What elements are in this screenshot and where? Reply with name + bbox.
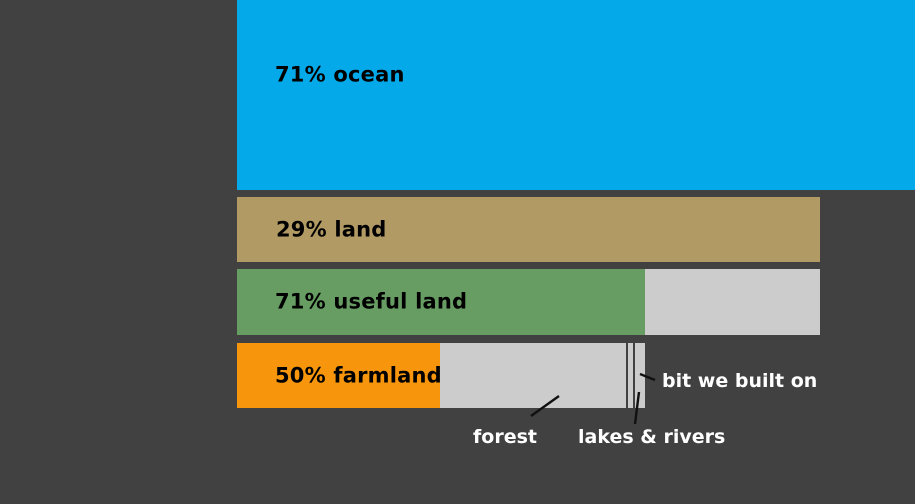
annotation-lakes-and-rivers: lakes & rivers	[578, 428, 725, 447]
annotation-forest: forest	[473, 428, 537, 447]
bar-label-farmland: 50% farmland	[275, 365, 442, 386]
bar-segment-forest	[440, 343, 626, 408]
bar-label-land: 29% land	[276, 219, 387, 240]
bar-segment-built-on	[635, 343, 645, 408]
annotation-built-on: bit we built on	[662, 372, 817, 391]
bar-row-farmland: 50% farmland	[237, 343, 645, 408]
bar-segment-ocean	[237, 0, 915, 190]
bar-row-land: 29% land	[237, 197, 820, 262]
bar-row-ocean: 71% ocean	[237, 0, 915, 190]
bar-segment-not-useful-land	[645, 269, 820, 335]
bar-label-ocean: 71% ocean	[275, 65, 405, 86]
bar-label-useful-land: 71% useful land	[275, 292, 467, 313]
bar-row-useful-land: 71% useful land	[237, 269, 820, 335]
infographic-canvas: 71% ocean 29% land 71% useful land 50% f…	[0, 0, 915, 504]
